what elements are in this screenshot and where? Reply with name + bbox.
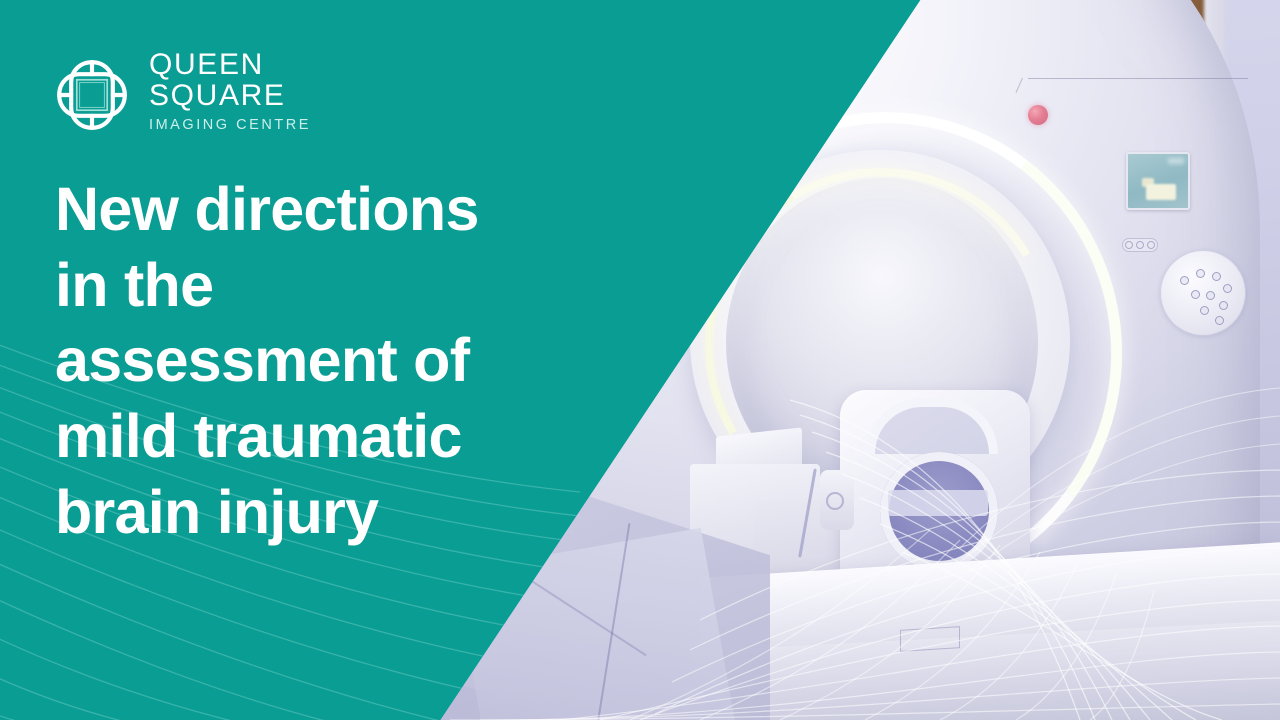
headline-line-2: in the: [55, 248, 575, 324]
console-button-1[interactable]: [1125, 241, 1133, 249]
dial-dot-3[interactable]: [1212, 272, 1221, 281]
page-title: New directions in the assessment of mild…: [55, 172, 575, 550]
headline-line-1: New directions: [55, 172, 575, 248]
dial-dot-2[interactable]: [1196, 269, 1205, 278]
dial-dot-7[interactable]: [1219, 301, 1228, 310]
three-button-row[interactable]: [1122, 238, 1158, 252]
dial-dot-4[interactable]: [1223, 284, 1232, 293]
brand-wordmark: QUEEN SQUARE IMAGING CENTRE: [149, 50, 311, 139]
dial-dot-1[interactable]: [1180, 276, 1189, 285]
lcd-glare: [1168, 158, 1184, 164]
brand-logo[interactable]: QUEEN SQUARE IMAGING CENTRE: [52, 50, 311, 139]
headline-line-4: mild traumatic: [55, 399, 575, 475]
headline-line-3: assessment of: [55, 323, 575, 399]
dial-dot-9[interactable]: [1215, 316, 1224, 325]
brain-knot-logo-icon: [52, 55, 132, 135]
gantry-seam-line: [1028, 78, 1248, 79]
brand-name-line2: SQUARE: [149, 81, 311, 112]
patient-table-seam: [900, 626, 960, 652]
lcd-display-panel: [1126, 152, 1190, 210]
circular-control-panel[interactable]: [1160, 250, 1246, 336]
console-button-3[interactable]: [1147, 241, 1155, 249]
brand-name-line1: QUEEN: [149, 50, 311, 81]
red-indicator-lamp: [1028, 105, 1048, 125]
console-button-2[interactable]: [1136, 241, 1144, 249]
brand-name-line3: IMAGING CENTRE: [149, 112, 311, 140]
slide-root: QUEEN SQUARE IMAGING CENTRE New directio…: [0, 0, 1280, 720]
dial-dot-8[interactable]: [1200, 306, 1209, 315]
dial-dot-6[interactable]: [1206, 291, 1215, 300]
head-coil-bar: [888, 490, 988, 516]
head-coil-knob: [826, 492, 844, 510]
lcd-content-lower: [1146, 184, 1176, 200]
dial-dot-5[interactable]: [1191, 290, 1200, 299]
headline-line-5: brain injury: [55, 475, 575, 551]
